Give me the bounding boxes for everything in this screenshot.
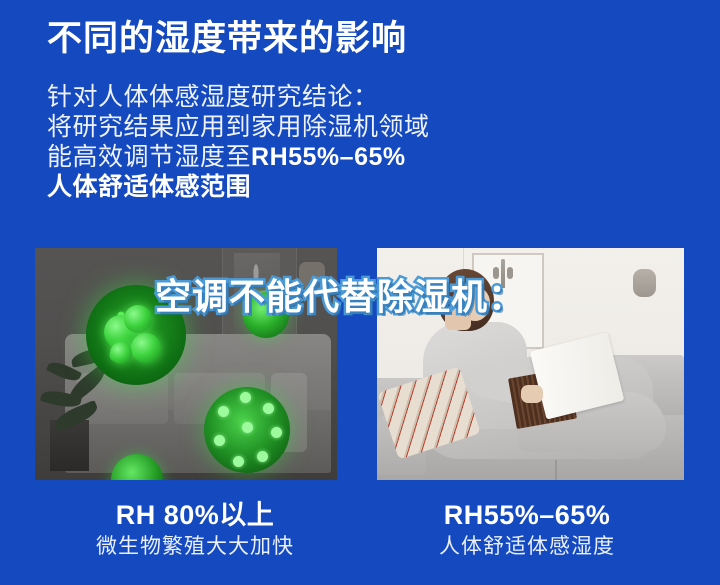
virus-spike: [263, 403, 274, 414]
caption-left: RH 80%以上 微生物繁殖大大加快: [40, 498, 350, 562]
caption-right-head: RH55%–65%: [372, 498, 682, 532]
virus-spike: [242, 422, 253, 433]
page-title: 不同的湿度带来的影响: [47, 18, 407, 60]
body-line-3: 能高效调节湿度至RH55%–65%: [47, 142, 430, 172]
virus-spike: [257, 451, 268, 462]
overlay-headline: 空调不能代替除湿机：: [155, 268, 525, 320]
body-line-1: 针对人体体感湿度研究结论：: [47, 82, 430, 112]
microbe-blob: [124, 305, 152, 333]
body-line-3-prefix: 能高效调节湿度至: [47, 143, 251, 171]
virus-spike: [218, 406, 229, 417]
microbe-blob: [131, 333, 161, 363]
microbe-blob: [110, 342, 132, 364]
caption-row: RH 80%以上 微生物繁殖大大加快 RH55%–65% 人体舒适体感湿度: [0, 498, 720, 585]
body-copy: 针对人体体感湿度研究结论： 将研究结果应用到家用除湿机领域 能高效调节湿度至RH…: [47, 82, 430, 202]
sofa-seam: [555, 460, 557, 480]
virus-icon: [204, 387, 290, 473]
humidity-infographic-poster: 不同的湿度带来的影响 针对人体体感湿度研究结论： 将研究结果应用到家用除湿机领域…: [0, 0, 720, 585]
caption-left-head: RH 80%以上: [40, 498, 350, 532]
wall-speaker-icon: [633, 269, 656, 297]
virus-spike: [233, 456, 244, 467]
body-line-4: 人体舒适体感范围: [47, 172, 430, 202]
caption-right-sub: 人体舒适体感湿度: [372, 532, 682, 562]
virus-spike: [271, 427, 282, 438]
caption-left-sub: 微生物繁殖大大加快: [40, 532, 350, 562]
virus-spike: [240, 392, 251, 403]
virus-spike: [214, 435, 225, 446]
caption-right: RH55%–65% 人体舒适体感湿度: [372, 498, 682, 562]
person-hand: [521, 385, 543, 403]
body-line-2: 将研究结果应用到家用除湿机领域: [47, 112, 430, 142]
body-line-3-value: RH55%–65%: [251, 143, 406, 171]
